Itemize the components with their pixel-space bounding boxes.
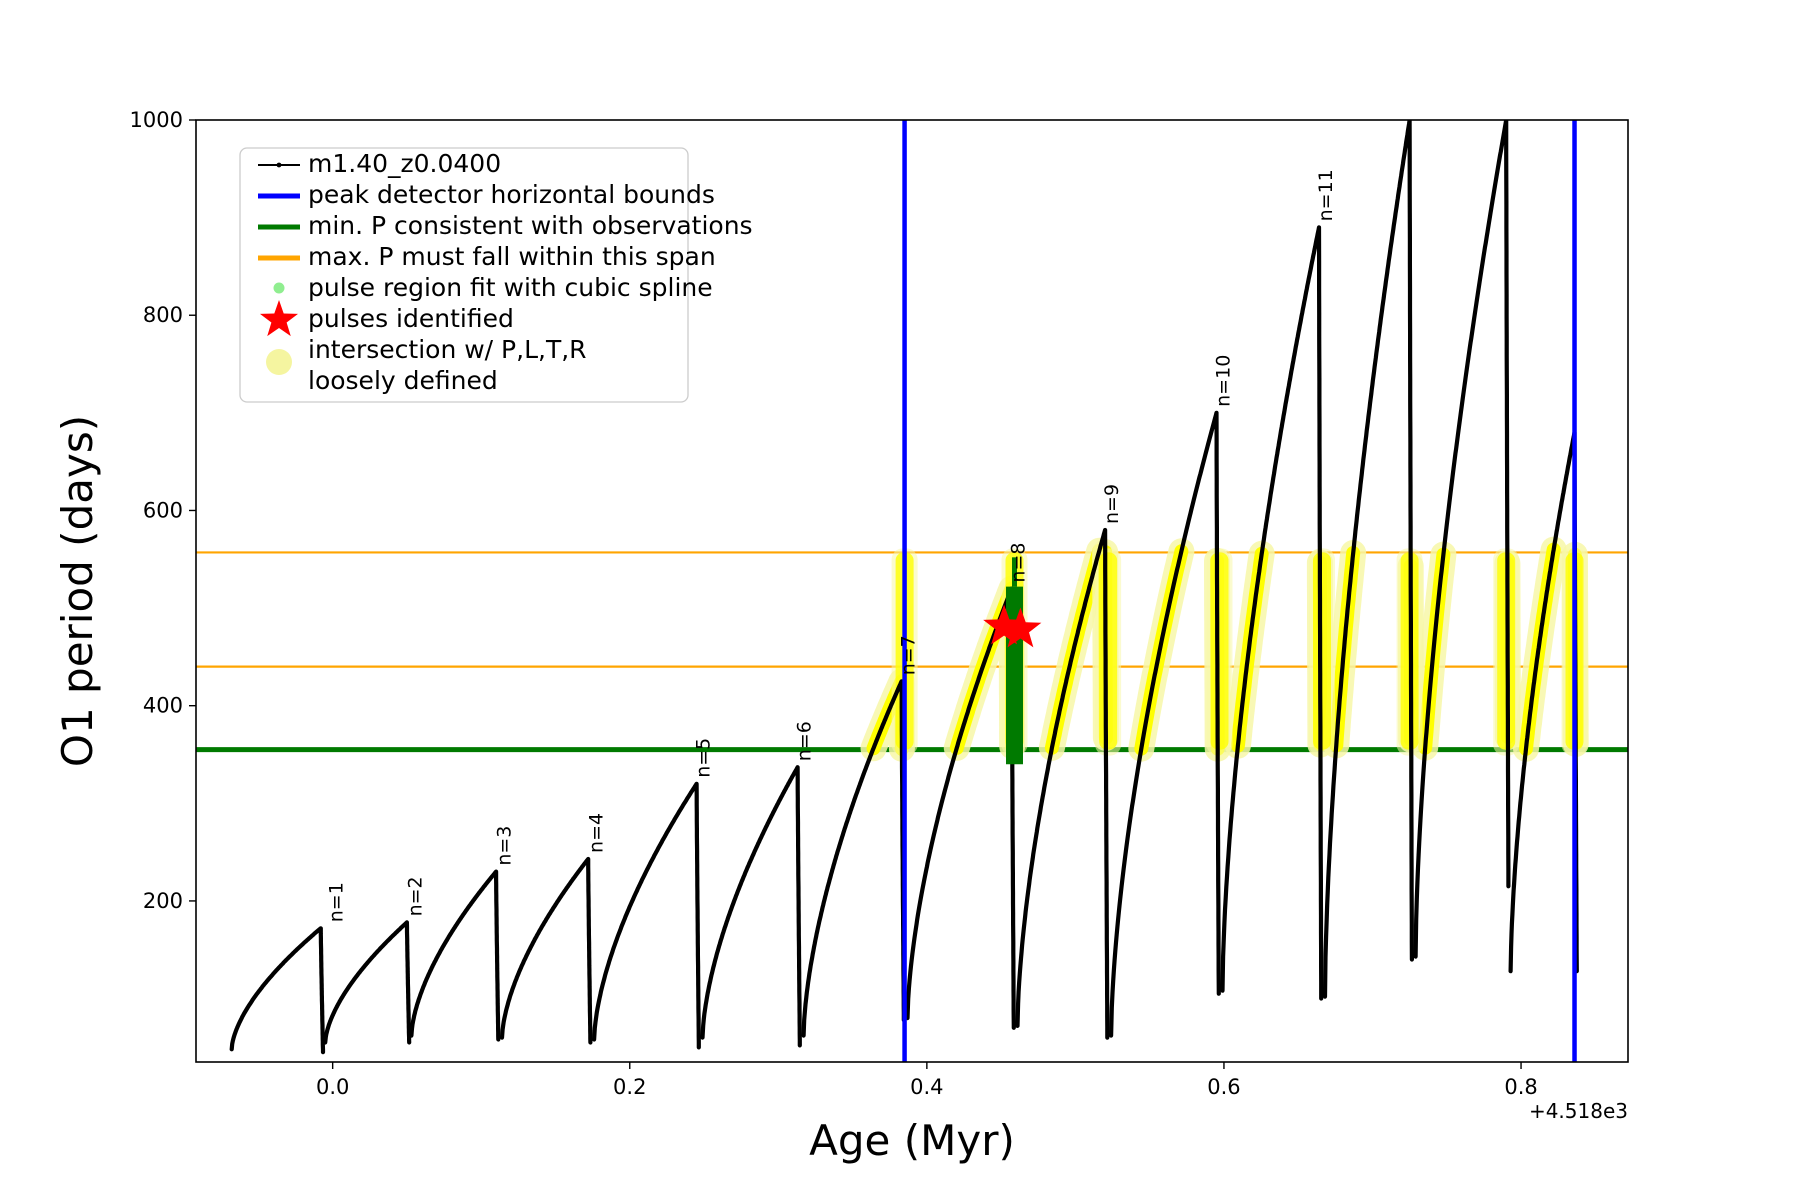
curve-marker — [593, 1038, 596, 1041]
curve-marker — [986, 652, 989, 655]
curve-marker — [858, 785, 861, 788]
curve-marker — [430, 968, 433, 971]
curve-marker — [242, 1013, 245, 1016]
curve-marker — [1554, 538, 1557, 541]
curve-marker — [236, 1025, 239, 1028]
curve-marker — [518, 970, 521, 973]
curve-marker — [466, 907, 469, 910]
curve-marker — [496, 1002, 499, 1005]
curve-marker — [1409, 483, 1412, 486]
curve-marker — [616, 934, 619, 937]
curve-marker — [1397, 193, 1400, 196]
curve-marker — [569, 880, 572, 883]
pulse-label-n-11: n=11 — [1315, 169, 1337, 221]
curve-marker — [1187, 520, 1190, 523]
curve-marker — [515, 977, 518, 980]
curve-marker — [495, 943, 498, 946]
curve-marker — [637, 886, 640, 889]
legend-entry-4[interactable]: pulse region fit with cubic spline — [274, 273, 713, 302]
curve-marker — [375, 950, 378, 953]
curve-marker — [1317, 226, 1320, 229]
curve-marker — [982, 662, 985, 665]
curve-marker — [1042, 789, 1045, 792]
legend-entry-2[interactable]: min. P consistent with observations — [258, 211, 753, 240]
curve-marker — [329, 1019, 332, 1022]
curve-marker — [1456, 433, 1459, 436]
curve-marker — [1083, 604, 1086, 607]
curve-marker — [455, 923, 458, 926]
curve-marker — [245, 1008, 248, 1011]
curve-marker — [1012, 1026, 1015, 1029]
legend-entry-1[interactable]: peak detector horizontal bounds — [258, 180, 715, 209]
curve-marker — [798, 1044, 801, 1047]
curve-marker — [640, 879, 643, 882]
curve-marker — [685, 798, 688, 801]
curve-marker — [835, 855, 838, 858]
curve-marker — [1490, 208, 1493, 211]
curve-marker — [880, 726, 883, 729]
curve-marker — [1048, 758, 1051, 761]
curve-marker — [354, 976, 357, 979]
curve-marker — [257, 990, 260, 993]
curve-marker — [424, 980, 427, 983]
curve-marker — [890, 702, 893, 705]
legend[interactable]: m1.40_z0.0400peak detector horizontal bo… — [240, 148, 753, 402]
pulse-label-n-2: n=2 — [404, 876, 426, 916]
curve-marker — [1524, 751, 1527, 754]
curve-marker — [764, 826, 767, 829]
curve-marker — [1453, 457, 1456, 460]
curve-marker — [351, 980, 354, 983]
curve-marker — [955, 749, 958, 752]
curve-marker — [688, 793, 691, 796]
curve-marker — [263, 983, 266, 986]
curve-marker — [1564, 477, 1567, 480]
curve-marker — [937, 813, 940, 816]
curve-marker — [610, 954, 613, 957]
curve-marker — [704, 1003, 707, 1006]
curve-marker — [394, 931, 397, 934]
curve-marker — [408, 1041, 411, 1044]
curve-marker — [558, 897, 561, 900]
curve-marker — [370, 956, 373, 959]
curve-marker — [1105, 810, 1108, 813]
curve-marker — [320, 981, 323, 984]
curve-marker — [695, 827, 698, 830]
curve-marker — [1410, 868, 1413, 871]
curve-marker — [1260, 557, 1263, 560]
curve-marker — [321, 1010, 324, 1013]
curve-marker — [1388, 252, 1391, 255]
curve-marker — [407, 1015, 410, 1018]
curve-marker — [717, 947, 720, 950]
y-tick-label-2: 600 — [143, 498, 183, 522]
curve-marker — [1025, 905, 1028, 908]
curve-marker — [503, 1014, 506, 1017]
curve-marker — [668, 827, 671, 830]
curve-marker — [1400, 174, 1403, 177]
curve-marker — [1106, 1036, 1109, 1039]
curve-marker — [630, 901, 633, 904]
curve-marker — [1417, 853, 1420, 856]
curve-marker — [1357, 498, 1360, 501]
curve-marker — [475, 895, 478, 898]
curve-marker — [458, 919, 461, 922]
curve-marker — [304, 940, 307, 943]
curve-marker — [1533, 680, 1536, 683]
curve-marker — [787, 783, 790, 786]
curve-marker — [1045, 773, 1048, 776]
curve-marker — [965, 714, 968, 717]
curve-marker — [696, 863, 699, 866]
curve-marker — [469, 903, 472, 906]
curve-marker — [1173, 580, 1176, 583]
curve-marker — [1279, 433, 1282, 436]
curve-marker — [365, 963, 368, 966]
curve-marker — [752, 853, 755, 856]
curve-marker — [1051, 743, 1054, 746]
curve-marker — [421, 987, 424, 990]
curve-marker — [647, 865, 650, 868]
curve-marker — [367, 960, 370, 963]
curve-marker — [320, 965, 323, 968]
curve-marker — [1036, 823, 1039, 826]
curve-marker — [867, 759, 870, 762]
curve-marker — [796, 766, 799, 769]
curve-marker — [345, 988, 348, 991]
curve-marker — [324, 1041, 327, 1044]
curve-marker — [1326, 889, 1329, 892]
curve-marker — [1057, 715, 1060, 718]
curve-marker — [809, 968, 812, 971]
curve-marker — [916, 913, 919, 916]
curve-marker — [1518, 815, 1521, 818]
curve-marker — [968, 704, 971, 707]
curve-marker — [623, 917, 626, 920]
curve-marker — [1502, 136, 1505, 139]
curve-marker — [1104, 749, 1107, 752]
curve-marker — [1499, 153, 1502, 156]
curve-marker — [930, 842, 933, 845]
curve-marker — [979, 672, 982, 675]
curve-marker — [1028, 882, 1031, 885]
curve-marker — [418, 995, 421, 998]
curve-marker — [284, 960, 287, 963]
plot-svg: n=1n=2n=3n=4n=5n=6n=7n=8n=9n=10n=11 0.00… — [0, 0, 1800, 1200]
curve-marker — [343, 992, 346, 995]
curve-marker — [230, 1048, 233, 1051]
curve-marker — [321, 1024, 324, 1027]
curve-marker — [841, 833, 844, 836]
curve-marker — [564, 889, 567, 892]
curve-marker — [1145, 719, 1148, 722]
curve-marker — [567, 885, 570, 888]
curve-marker — [603, 977, 606, 980]
curve-marker — [780, 795, 783, 798]
curve-marker — [441, 946, 444, 949]
curve-marker — [793, 771, 796, 774]
curve-marker — [1276, 452, 1279, 455]
curve-marker — [1152, 681, 1155, 684]
curve-marker — [1305, 291, 1308, 294]
curve-marker — [1474, 304, 1477, 307]
curve-marker — [1272, 472, 1275, 475]
curve-marker — [758, 839, 761, 842]
legend-swatch-yellow-blob — [266, 349, 292, 375]
curve-marker — [1506, 632, 1509, 635]
figure-canvas: n=1n=2n=3n=4n=5n=6n=7n=8n=9n=10n=11 0.00… — [0, 0, 1800, 1200]
curve-marker — [771, 813, 774, 816]
curve-marker — [1127, 829, 1130, 832]
x-tick-label-4: 0.8 — [1504, 1075, 1537, 1099]
curve-marker — [1104, 615, 1107, 618]
curve-marker — [438, 951, 441, 954]
curve-marker — [1558, 513, 1561, 516]
curve-marker — [403, 923, 406, 926]
y-tick-label-3: 800 — [143, 303, 183, 327]
curve-marker — [316, 929, 319, 932]
curve-marker — [1511, 904, 1514, 907]
curve-marker — [1231, 806, 1234, 809]
curve-marker — [400, 926, 403, 929]
legend-entry-7[interactable]: loosely defined — [308, 366, 498, 395]
curve-marker — [790, 777, 793, 780]
curve-marker — [941, 799, 944, 802]
curve-marker — [584, 861, 587, 864]
curve-marker — [692, 788, 695, 791]
curve-marker — [768, 819, 771, 822]
curve-marker — [1298, 324, 1301, 327]
curve-marker — [1371, 379, 1374, 382]
curve-marker — [1063, 688, 1066, 691]
curve-marker — [854, 794, 857, 797]
curve-marker — [301, 942, 304, 945]
curve-marker — [1282, 414, 1285, 417]
curve-marker — [415, 1003, 418, 1006]
curve-marker — [552, 906, 555, 909]
curve-marker — [587, 914, 590, 917]
curve-marker — [1530, 697, 1533, 700]
curve-marker — [851, 804, 854, 807]
curve-marker — [1567, 465, 1570, 468]
curve-marker — [661, 839, 664, 842]
curve-marker — [1201, 464, 1204, 467]
curve-marker — [1505, 249, 1508, 252]
curve-marker — [1402, 155, 1405, 158]
curve-marker — [1496, 171, 1499, 174]
curve-marker — [1319, 830, 1322, 833]
curve-marker — [1180, 550, 1183, 553]
curve-marker — [1148, 700, 1151, 703]
curve-marker — [278, 966, 281, 969]
curve-marker — [1113, 958, 1116, 961]
curve-marker — [1011, 831, 1014, 834]
curve-marker — [1423, 754, 1426, 757]
curve-marker — [587, 889, 590, 892]
curve-marker — [478, 891, 481, 894]
curve-marker — [1092, 571, 1095, 574]
curve-marker — [1217, 992, 1220, 995]
curve-marker — [389, 936, 392, 939]
curve-marker — [581, 865, 584, 868]
curve-marker — [1197, 478, 1200, 481]
curve-marker — [523, 957, 526, 960]
curve-marker — [749, 860, 752, 863]
curve-marker — [697, 1046, 700, 1049]
curve-marker — [1338, 706, 1341, 709]
curve-marker — [1363, 449, 1366, 452]
curve-marker — [783, 789, 786, 792]
curve-marker — [1134, 781, 1137, 784]
curve-marker — [310, 934, 313, 937]
curve-marker — [589, 1021, 592, 1024]
curve-marker — [1391, 232, 1394, 235]
curve-marker — [634, 893, 637, 896]
curve-marker — [526, 951, 529, 954]
curve-marker — [1292, 359, 1295, 362]
pulse-label-n-6: n=6 — [794, 721, 816, 761]
curve-marker — [1319, 914, 1322, 917]
curve-marker — [1216, 801, 1219, 804]
curve-marker — [381, 945, 384, 948]
curve-marker — [410, 1034, 413, 1037]
curve-marker — [620, 925, 623, 928]
curve-marker — [761, 832, 764, 835]
curve-marker — [463, 911, 466, 914]
curve-marker — [348, 984, 351, 987]
curve-marker — [1513, 869, 1516, 872]
curve-marker — [1323, 995, 1326, 998]
curve-marker — [1369, 401, 1372, 404]
curve-marker — [736, 891, 739, 894]
curve-marker — [864, 767, 867, 770]
curve-marker — [269, 976, 272, 979]
curve-marker — [427, 974, 430, 977]
curve-marker — [1124, 856, 1127, 859]
curve-marker — [1266, 513, 1269, 516]
x-axis-offset-text: +4.518e3 — [1529, 1099, 1628, 1123]
curve-marker — [356, 973, 359, 976]
curve-marker — [1095, 560, 1098, 563]
curve-marker — [337, 1001, 340, 1004]
curve-marker — [948, 773, 951, 776]
curve-marker — [723, 926, 726, 929]
curve-marker — [1438, 586, 1441, 589]
curve-marker — [489, 877, 492, 880]
curve-marker — [444, 941, 447, 944]
curve-marker — [362, 966, 365, 969]
legend-label-5: pulses identified — [308, 304, 514, 333]
curve-marker — [1224, 897, 1227, 900]
curve-marker — [774, 807, 777, 810]
curve-marker — [326, 1026, 329, 1029]
curve-marker — [944, 786, 947, 789]
curve-marker — [1269, 492, 1272, 495]
pulse-label-n-4: n=4 — [586, 813, 608, 853]
curve-marker — [1515, 840, 1518, 843]
curve-marker — [1569, 453, 1572, 456]
curve-marker — [1346, 609, 1349, 612]
curve-marker — [1221, 989, 1224, 992]
curve-marker — [1394, 212, 1397, 215]
pulse-label-n-9: n=9 — [1101, 484, 1123, 524]
curve-marker — [797, 887, 800, 890]
pulse-label-n-7: n=7 — [898, 635, 920, 675]
curve-marker — [275, 969, 278, 972]
pulse-label-n-5: n=5 — [693, 738, 715, 778]
curve-marker — [1176, 565, 1179, 568]
curve-marker — [1217, 930, 1220, 933]
curve-marker — [884, 718, 887, 721]
curve-marker — [492, 874, 495, 877]
curve-marker — [447, 936, 450, 939]
curve-marker — [1011, 778, 1014, 781]
legend-entry-3[interactable]: max. P must fall within this span — [258, 242, 716, 271]
curve-marker — [1522, 771, 1525, 774]
curve-marker — [1343, 639, 1346, 642]
curve-marker — [392, 934, 395, 937]
curve-marker — [1016, 1024, 1019, 1027]
curve-marker — [1263, 535, 1266, 538]
curve-marker — [1383, 292, 1386, 295]
curve-marker — [1289, 377, 1292, 380]
curve-marker — [295, 948, 298, 951]
curve-marker — [1468, 346, 1471, 349]
pulse-label-n-1: n=1 — [326, 882, 348, 922]
curve-marker — [1505, 451, 1508, 454]
curve-marker — [496, 983, 499, 986]
curve-marker — [730, 908, 733, 911]
curve-marker — [887, 710, 890, 713]
curve-marker — [1543, 605, 1546, 608]
curve-marker — [1105, 869, 1108, 872]
curve-marker — [1301, 307, 1304, 310]
curve-marker — [319, 927, 322, 930]
curve-marker — [506, 1003, 509, 1006]
curve-marker — [975, 682, 978, 685]
legend-label-2: min. P consistent with observations — [308, 211, 753, 240]
pulse-label-n-3: n=3 — [494, 826, 516, 866]
curve-marker — [1507, 885, 1510, 888]
curve-marker — [544, 920, 547, 923]
curve-marker — [248, 1003, 251, 1006]
curve-marker — [313, 932, 316, 935]
curve-marker — [549, 910, 552, 913]
curve-marker — [742, 875, 745, 878]
curve-marker — [298, 945, 301, 948]
curve-marker — [452, 927, 455, 930]
pulse-label-n-8: n=8 — [1007, 542, 1029, 582]
curve-marker — [961, 726, 964, 729]
curve-marker — [805, 991, 808, 994]
curve-marker — [1349, 580, 1352, 583]
curve-marker — [435, 956, 438, 959]
curve-marker — [1471, 325, 1474, 328]
curve-marker — [654, 852, 657, 855]
curve-marker — [555, 901, 558, 904]
curve-marker — [472, 899, 475, 902]
curve-marker — [1105, 926, 1108, 929]
curve-marker — [675, 815, 678, 818]
curve-marker — [972, 693, 975, 696]
curve-marker — [578, 869, 581, 872]
curve-marker — [1237, 738, 1240, 741]
curve-marker — [909, 964, 912, 967]
curve-marker — [1408, 262, 1411, 265]
curve-marker — [1550, 564, 1553, 567]
x-tick-label-2: 0.4 — [910, 1075, 943, 1099]
y-tick-label-0: 200 — [143, 889, 183, 913]
